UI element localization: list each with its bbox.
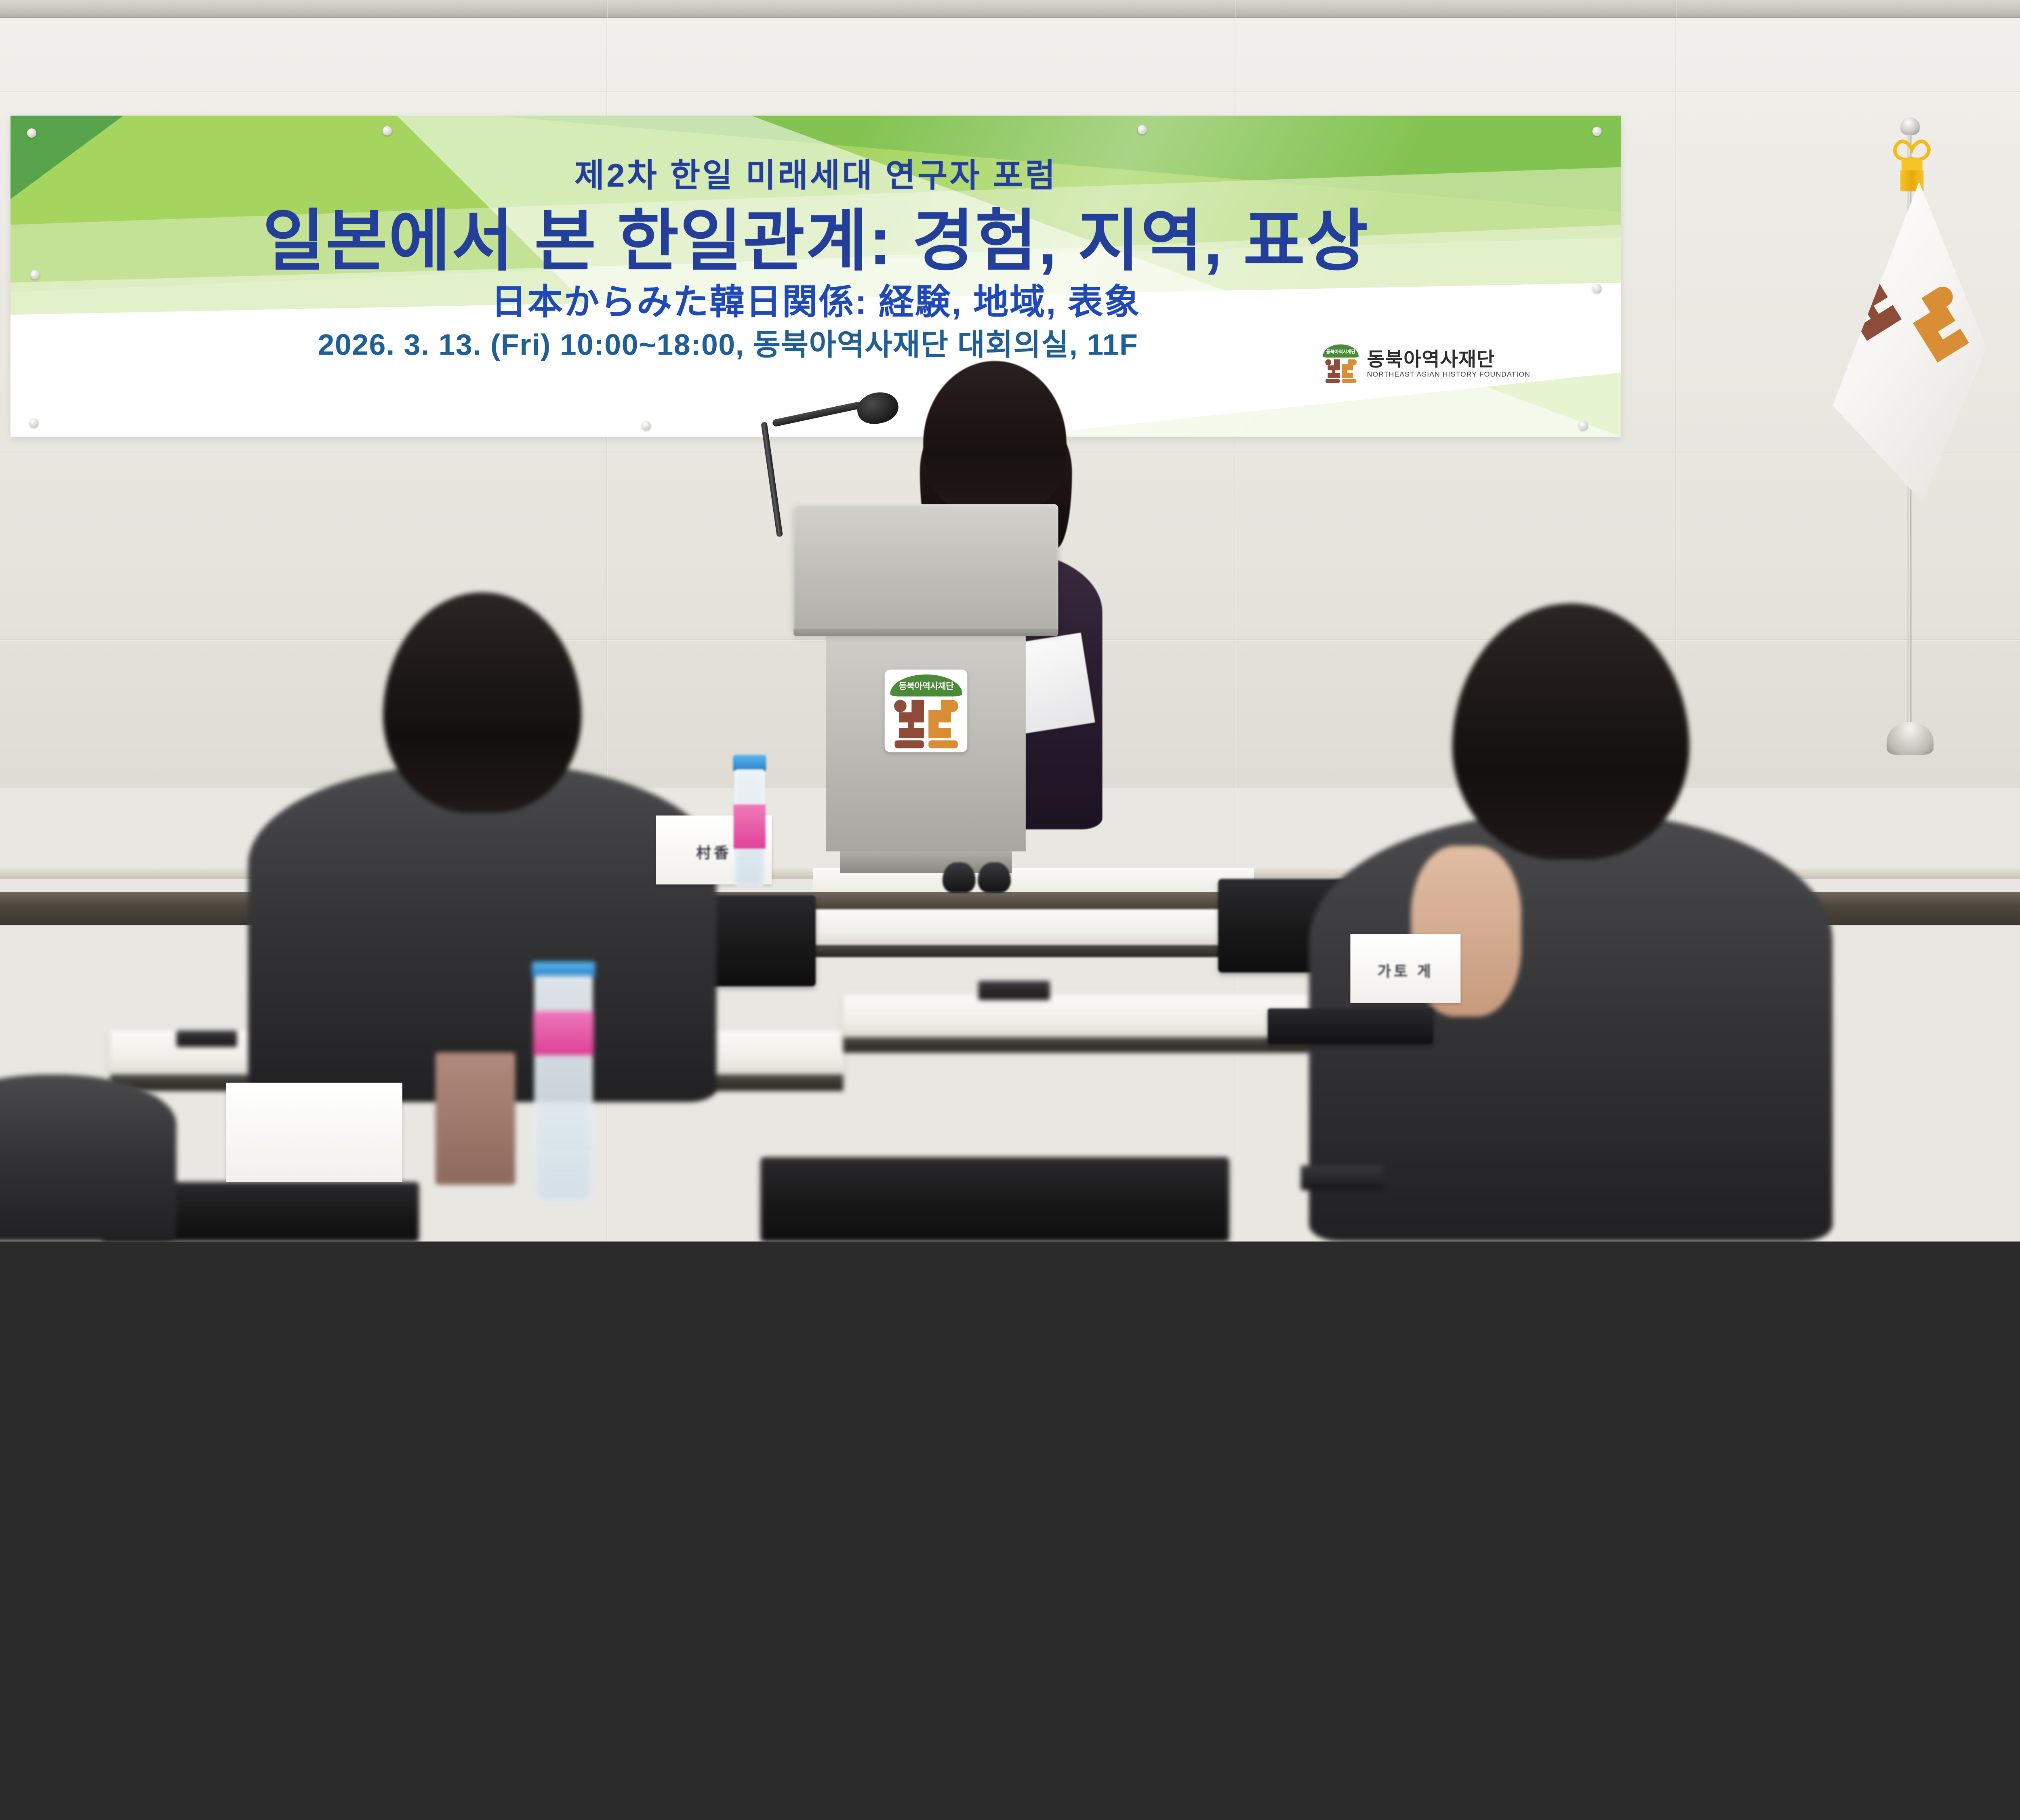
audience-member-right (1309, 603, 1833, 1242)
flag-cloth (1833, 182, 1987, 501)
foundation-name-ko: 동북아역사재단 (1367, 350, 1530, 369)
bottle-body (534, 976, 593, 1201)
banner-pin (642, 421, 651, 430)
flag-base (1887, 722, 1934, 755)
audience-member-left (248, 593, 717, 1102)
foundation-flag (1822, 91, 2014, 766)
podium-foundation-logo: 동북아역사재단 (885, 670, 968, 752)
phone (177, 1030, 237, 1047)
banner-title-ja: 日本からみた韓日関係: 経験, 地域, 表象 (491, 285, 1140, 320)
foundation-arc: 동북아역사재단 (1323, 345, 1359, 358)
foundation-arc-label: 동북아역사재단 (1326, 348, 1355, 355)
banner-pin (29, 418, 38, 427)
banner-details: 2026. 3. 13. (Fri) 10:00~18:00, 동북아역사재단 … (318, 330, 1138, 360)
bottle-cap (733, 755, 766, 771)
banner-pin (1592, 127, 1601, 136)
audience-shoulders (0, 1074, 177, 1241)
shoe (978, 862, 1011, 893)
remote-control (978, 981, 1050, 1000)
bottle-label (533, 1011, 594, 1055)
chair (761, 1157, 1229, 1242)
podium-logo-arc: 동북아역사재단 (890, 675, 962, 697)
foundation-symbol-icon (1324, 359, 1358, 383)
foundation-wordmark: 동북아역사재단 NORTHEAST ASIAN HISTORY FOUNDATI… (1367, 350, 1530, 378)
banner-pin (27, 128, 36, 138)
audience-member-foreground (0, 1074, 177, 1241)
foundation-logo-banner: 동북아역사재단 동북아역사재단 NORTHEAST ASIAN HISTORY … (1323, 345, 1530, 383)
bottle-cap (532, 962, 595, 978)
audience-head (383, 593, 581, 813)
audience-head (1452, 603, 1690, 860)
banner-text-block: 제2차 한일 미래세대 연구자 포럼 일본에서 본 한일관계: 경험, 지역, … (11, 116, 1621, 437)
nameplate-name: 가토 게 (1377, 959, 1433, 981)
banner-pin (383, 126, 392, 135)
ceiling-soffit (0, 0, 2020, 18)
event-banner: 제2차 한일 미래세대 연구자 포럼 일본에서 본 한일관계: 경험, 지역, … (11, 116, 1621, 437)
podium-lectern-panel (794, 504, 1058, 634)
nameplate: 가토 게 (1350, 934, 1460, 1003)
nameplate (226, 1083, 402, 1182)
speaker-shoes (943, 862, 1014, 895)
wall-seam (0, 91, 2020, 92)
foundation-symbol-icon (1833, 231, 1987, 419)
foundation-mark: 동북아역사재단 (1323, 345, 1359, 383)
podium-logo-arc-label: 동북아역사재단 (899, 679, 954, 691)
banner-pin (1138, 125, 1147, 135)
podium: 동북아역사재단 (794, 504, 1058, 890)
podium-edge (794, 629, 1058, 636)
banner-pin (30, 270, 40, 279)
audience-shoulders (248, 763, 717, 1102)
bottle-label (734, 805, 766, 849)
water-bottle (733, 755, 766, 887)
nameplate-name: 村香 (696, 841, 731, 862)
banner-title-ko: 일본에서 본 한일관계: 경험, 지역, 표상 (263, 208, 1369, 275)
speaker-hair (923, 361, 1067, 515)
conference-room-photo: 제2차 한일 미래세대 연구자 포럼 일본에서 본 한일관계: 경험, 지역, … (0, 0, 2020, 1242)
banner-pin (1592, 284, 1601, 293)
foundation-name-en: NORTHEAST ASIAN HISTORY FOUNDATION (1367, 370, 1530, 378)
paper-cup (436, 1053, 516, 1185)
shoe (943, 862, 976, 893)
banner-eyebrow: 제2차 한일 미래세대 연구자 포럼 (574, 149, 1057, 196)
water-bottle (532, 962, 595, 1201)
banner-pin (1578, 421, 1588, 430)
laptop (1268, 1009, 1433, 1045)
remote-control (1301, 1165, 1384, 1190)
foundation-symbol-icon (891, 699, 962, 748)
